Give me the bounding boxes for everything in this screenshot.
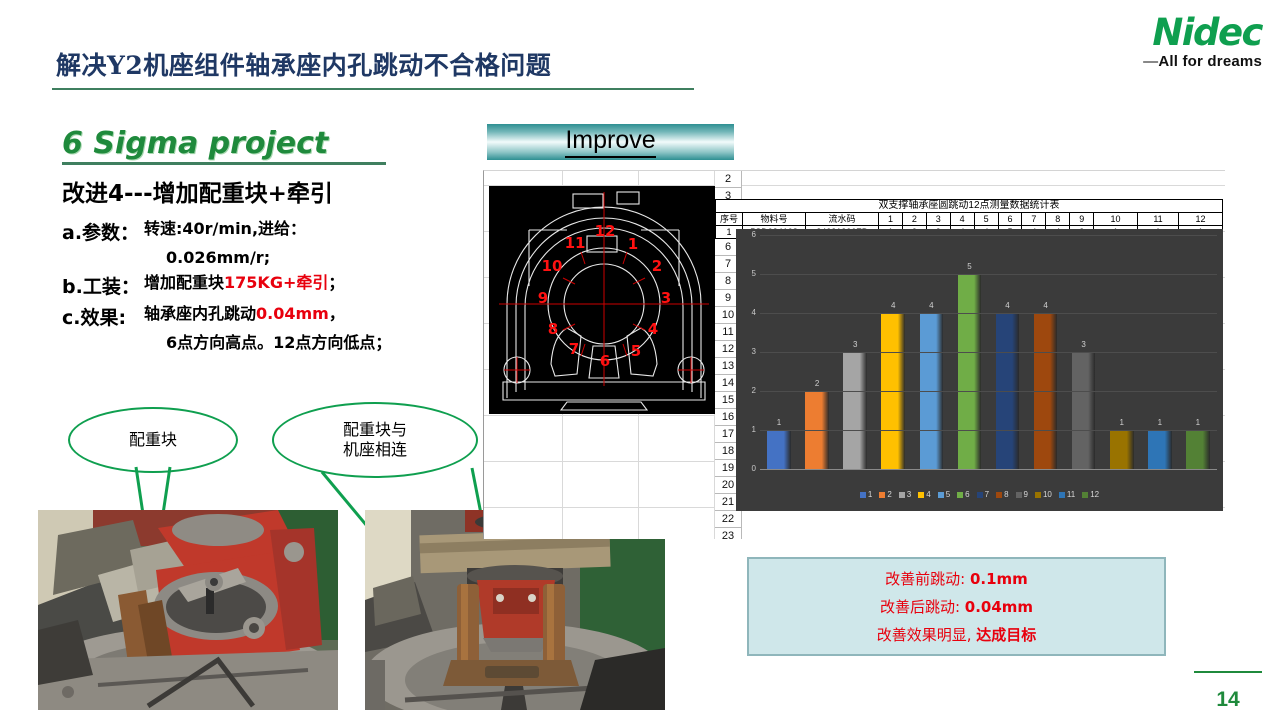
- clock-label-9: 9: [538, 289, 548, 307]
- logo-wordmark: Nidec: [1090, 14, 1262, 52]
- bullet-c-cont: 6点方向高点。12点方向低点；: [166, 332, 462, 353]
- row-number[interactable]: 23: [715, 528, 742, 539]
- table-column-header: 10: [1094, 213, 1138, 226]
- chart-gridline: [760, 352, 1217, 353]
- chart-legend-swatch: [938, 492, 944, 498]
- section-title-6-sigma: 6 Sigma project: [62, 126, 328, 161]
- chart-bar-value-label: 5: [958, 262, 982, 271]
- chart-legend: 123456789101112: [736, 490, 1223, 499]
- chart-legend-swatch: [1035, 492, 1041, 498]
- chart-legend-label: 8: [1004, 490, 1008, 499]
- photo-1-content: [38, 510, 338, 710]
- chart-bar: 3: [843, 352, 867, 469]
- clock-label-7: 7: [569, 340, 579, 358]
- chart-bar-value-label: 4: [996, 301, 1020, 310]
- chart-axis-line: [760, 469, 1217, 470]
- chart-legend-item: 7: [977, 490, 989, 499]
- section-title-underline: [62, 162, 386, 165]
- chart-y-tick-label: 0: [738, 464, 756, 473]
- bullet-a: a.参数： 转速:40r/min,进给：: [62, 218, 462, 245]
- chart-legend-label: 5: [946, 490, 950, 499]
- callout-counterweight: 配重块: [68, 407, 238, 473]
- result-line-before: 改善前跳动: 0.1mm: [885, 568, 1028, 589]
- bearing-housing-drawing: 12 1 2 3 4 5 6 7 8 9 10 11: [489, 186, 719, 414]
- table-column-header: 物料号: [743, 213, 806, 226]
- chart-bar-value-label: 1: [1186, 418, 1210, 427]
- chart-gridline: [760, 274, 1217, 275]
- chart-legend-item: 4: [918, 490, 930, 499]
- bullet-a-cont: 0.026mm/r;: [166, 247, 462, 268]
- chart-legend-item: 5: [938, 490, 950, 499]
- row-number[interactable]: 22: [715, 511, 742, 528]
- chart-legend-label: 4: [926, 490, 930, 499]
- cad-content: 12 1 2 3 4 5 6 7 8 9 10 11: [489, 186, 719, 414]
- clock-label-2: 2: [652, 257, 662, 275]
- chart-legend-label: 9: [1024, 490, 1028, 499]
- result-summary-box: 改善前跳动: 0.1mm 改善后跳动: 0.04mm 改善效果明显, 达成目标: [747, 557, 1166, 656]
- chart-y-tick-label: 1: [738, 425, 756, 434]
- photo-counterweight-setup: [38, 510, 338, 710]
- chart-legend-swatch: [957, 492, 963, 498]
- chart-gridline: [760, 313, 1217, 314]
- chart-legend-label: 6: [965, 490, 969, 499]
- table-column-header: 1: [879, 213, 903, 226]
- chart-legend-swatch: [879, 492, 885, 498]
- table-column-header: 11: [1137, 213, 1178, 226]
- table-column-header: 3: [926, 213, 950, 226]
- chart-legend-label: 7: [985, 490, 989, 499]
- chart-bar-value-label: 1: [1110, 418, 1134, 427]
- chart-legend-item: 10: [1035, 490, 1052, 499]
- chart-y-tick-label: 2: [738, 386, 756, 395]
- chart-legend-swatch: [860, 492, 866, 498]
- callout-linked-label-line2: 机座相连: [343, 440, 407, 460]
- chart-bar: 1: [767, 430, 791, 469]
- callout-counterweight-linked: 配重块与 机座相连: [272, 402, 478, 478]
- result-line-after: 改善后跳动: 0.04mm: [880, 596, 1033, 617]
- clock-label-1: 1: [628, 235, 638, 253]
- chart-bar-value-label: 1: [767, 418, 791, 427]
- table-column-header: 6: [998, 213, 1022, 226]
- chart-legend-label: 3: [907, 490, 911, 499]
- chart-legend-item: 9: [1016, 490, 1028, 499]
- photo-2-content: [365, 510, 665, 710]
- chart-legend-item: 3: [899, 490, 911, 499]
- footer-rule: [1194, 671, 1262, 673]
- chart-bar: 1: [1110, 430, 1134, 469]
- bullet-c-highlight: 0.04mm: [256, 304, 329, 323]
- callout-linked-label-line1: 配重块与: [343, 420, 407, 440]
- chart-legend-item: 2: [879, 490, 891, 499]
- chart-legend-swatch: [977, 492, 983, 498]
- clock-label-11: 11: [565, 234, 586, 252]
- table-column-header: 序号: [716, 213, 743, 226]
- chart-legend-item: 8: [996, 490, 1008, 499]
- title-underline: [52, 88, 694, 90]
- chart-bar: 3: [1072, 352, 1096, 469]
- chart-bar: 1: [1148, 430, 1172, 469]
- chart-gridline: [760, 235, 1217, 236]
- clock-label-10: 10: [542, 257, 563, 275]
- chart-y-tick-label: 3: [738, 347, 756, 356]
- chart-bar-value-label: 4: [1034, 301, 1058, 310]
- table-title: 双支撑轴承座圆跳动12点测量数据统计表: [716, 200, 1223, 213]
- chart-bar: 5: [958, 274, 982, 469]
- chart-legend-label: 1: [868, 490, 872, 499]
- chart-legend-item: 1: [860, 490, 872, 499]
- logo-tagline: —All for dreams: [1090, 53, 1262, 70]
- table-column-header: 4: [950, 213, 974, 226]
- page-title: 解决Y2机座组件轴承座内孔跳动不合格问题: [56, 46, 551, 82]
- chart-y-tick-label: 5: [738, 269, 756, 278]
- chart-legend-item: 12: [1082, 490, 1099, 499]
- chart-legend-label: 2: [887, 490, 891, 499]
- chart-legend-label: 10: [1043, 490, 1052, 499]
- chart-legend-swatch: [918, 492, 924, 498]
- chart-bar-value-label: 3: [843, 340, 867, 349]
- chart-bar: 1: [1186, 430, 1210, 469]
- chart-gridline: [760, 430, 1217, 431]
- chart-y-tick-label: 6: [738, 230, 756, 239]
- chart-legend-item: 11: [1059, 490, 1075, 499]
- bullet-c-text: 轴承座内孔跳动0.04mm，: [144, 303, 345, 324]
- slide: 解决Y2机座组件轴承座内孔跳动不合格问题 Nidec —All for drea…: [0, 0, 1280, 720]
- table-column-header: 8: [1046, 213, 1070, 226]
- chart-bar-value-label: 4: [881, 301, 905, 310]
- row-number[interactable]: 2: [715, 171, 742, 188]
- chart-legend-swatch: [899, 492, 905, 498]
- improvement-heading: 改进4---增加配重块+牵引: [62, 174, 333, 208]
- bullet-b: b.工装： 增加配重块175KG+牵引；: [62, 272, 462, 299]
- runout-bar-chart: 123445443111 0123456 123456789101112: [736, 229, 1223, 511]
- chart-y-tick-label: 4: [738, 308, 756, 317]
- table-column-header: 7: [1022, 213, 1046, 226]
- clock-label-12: 12: [595, 222, 616, 240]
- bullet-a-text: 转速:40r/min,进给：: [144, 218, 306, 239]
- chart-legend-label: 12: [1090, 490, 1099, 499]
- table-column-header: 9: [1070, 213, 1094, 226]
- clock-label-8: 8: [548, 320, 558, 338]
- clock-label-6: 6: [600, 352, 610, 370]
- nidec-logo: Nidec —All for dreams: [1090, 14, 1262, 76]
- chart-legend-item: 6: [957, 490, 969, 499]
- chart-plot-area: 123445443111 0123456: [760, 235, 1217, 469]
- chart-bar-value-label: 2: [805, 379, 829, 388]
- table-column-header: 12: [1179, 213, 1223, 226]
- photo-beam-clamped: [365, 510, 665, 710]
- bullet-a-tag: a.参数：: [62, 218, 144, 245]
- improve-banner-label: Improve: [487, 124, 734, 160]
- bullet-list: a.参数： 转速:40r/min,进给： 0.026mm/r; b.工装： 增加…: [62, 218, 462, 353]
- chart-bar-value-label: 3: [1072, 340, 1096, 349]
- table-title-row: 双支撑轴承座圆跳动12点测量数据统计表: [716, 200, 1223, 213]
- result-line-conclusion: 改善效果明显, 达成目标: [877, 624, 1037, 645]
- table-column-header: 2: [902, 213, 926, 226]
- bullet-b-tag: b.工装：: [62, 272, 144, 299]
- chart-legend-swatch: [1082, 492, 1088, 498]
- bullet-c: c.效果: 轴承座内孔跳动0.04mm，: [62, 303, 462, 330]
- clock-label-3: 3: [661, 289, 671, 307]
- clock-label-4: 4: [648, 320, 658, 338]
- clock-label-5: 5: [631, 342, 641, 360]
- table-column-header: 5: [974, 213, 998, 226]
- chart-legend-swatch: [1016, 492, 1022, 498]
- table-header-row: 序号物料号流水码123456789101112: [716, 213, 1223, 226]
- chart-legend-label: 11: [1067, 490, 1075, 499]
- table-column-header: 流水码: [806, 213, 879, 226]
- callout-counterweight-label: 配重块: [129, 430, 177, 450]
- excel-sheet[interactable]: 12 1 2 3 4 5 6 7 8 9 10 11 2345678910111…: [483, 170, 1225, 539]
- chart-legend-swatch: [996, 492, 1002, 498]
- chart-bar-value-label: 1: [1148, 418, 1172, 427]
- bullet-b-highlight: 175KG+牵引: [224, 273, 328, 292]
- chart-bar-value-label: 4: [920, 301, 944, 310]
- bullet-c-tag: c.效果:: [62, 303, 144, 330]
- chart-legend-swatch: [1059, 492, 1065, 498]
- chart-gridline: [760, 391, 1217, 392]
- bullet-b-text: 增加配重块175KG+牵引；: [144, 272, 344, 293]
- page-number: 14: [1194, 688, 1262, 712]
